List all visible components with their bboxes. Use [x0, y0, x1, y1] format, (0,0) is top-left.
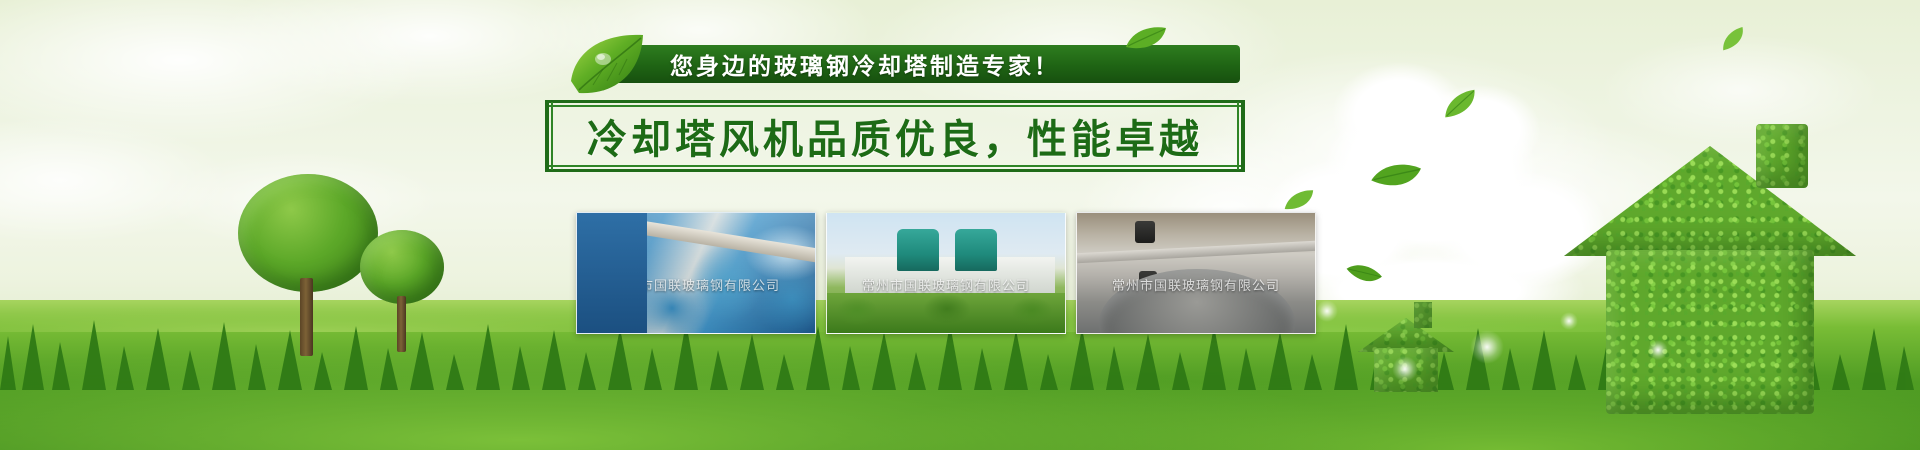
tagline-text: 您身边的玻璃钢冷却塔制造专家！: [670, 47, 1060, 81]
product-photo-strip: 常州市国联玻璃钢有限公司 常州市国联玻璃钢有限公司 常州市国联玻璃钢有限公司: [576, 212, 1316, 334]
photo-watermark: 常州市国联玻璃钢有限公司: [577, 275, 815, 294]
house-icon: [1560, 124, 1860, 414]
leaf-icon: [1437, 86, 1482, 121]
leaf-icon: [1367, 155, 1424, 195]
page-title: 冷却塔风机品质优良，性能卓越: [545, 100, 1245, 172]
leaf-icon: [1716, 25, 1751, 54]
tagline-bar: 您身边的玻璃钢冷却塔制造专家！: [585, 45, 1240, 83]
foliage-shape: [827, 293, 1066, 333]
fan-motor-shape: [1135, 221, 1155, 243]
leaf-icon: [565, 33, 651, 97]
product-photo[interactable]: 常州市国联玻璃钢有限公司: [1076, 212, 1316, 334]
tower-basin-shape: [1099, 269, 1295, 334]
tower-deck-shape: [1077, 241, 1316, 264]
headline-box: 冷却塔风机品质优良，性能卓越: [545, 100, 1245, 172]
product-photo[interactable]: 常州市国联玻璃钢有限公司: [826, 212, 1066, 334]
house-icon: [1352, 300, 1460, 392]
leaf-icon: [1281, 188, 1317, 213]
cooling-tower-shape: [955, 229, 997, 271]
product-photo[interactable]: 常州市国联玻璃钢有限公司: [576, 212, 816, 334]
cooling-tower-shape: [897, 229, 939, 271]
promotional-banner: 您身边的玻璃钢冷却塔制造专家！ 冷却塔风机品质优良，性能卓越: [0, 0, 1920, 450]
